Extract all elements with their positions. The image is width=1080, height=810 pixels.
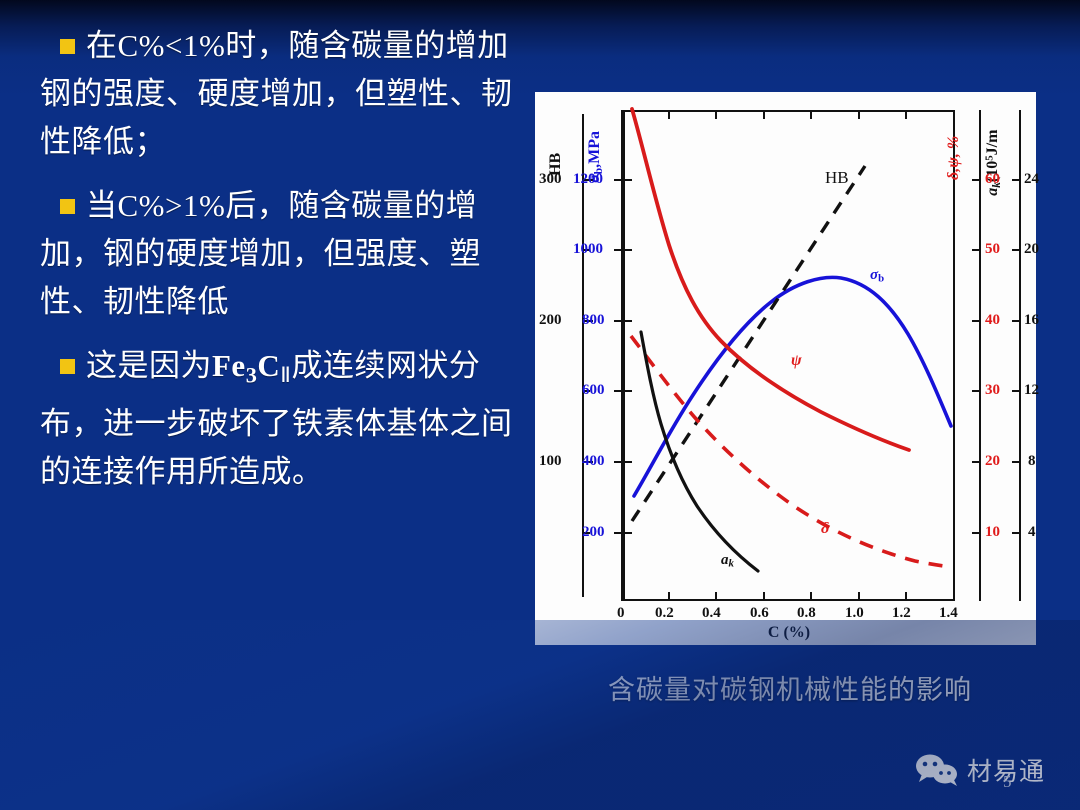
bullet-item-2-text: 当C%>1%后，随含碳量的增加，钢的硬度增加，但强度、塑性、韧性降低	[40, 188, 481, 319]
hb-label-300: 300	[539, 171, 562, 188]
deltapsi-axis-line	[979, 110, 981, 601]
bullet-item-1-text: 在C%<1%时，随含碳量的增加钢的强度、硬度增加，但塑性、韧性降低；	[40, 28, 513, 159]
sigmab-label-1000: 1000	[573, 241, 603, 258]
x-label-06: 0.6	[750, 605, 769, 622]
x-label-02: 0.2	[655, 605, 674, 622]
x-tick-top	[715, 110, 717, 119]
slide-background: 在C%<1%时，随含碳量的增加钢的强度、硬度增加，但塑性、韧性降低； 当C%>1…	[0, 0, 1080, 810]
bullet-item-3: 这是因为Fe3CⅡ成连续网状分布，进一步破坏了铁素体基体之间的连接作用所造成。	[40, 342, 528, 496]
deltapsi-tick-40	[972, 320, 980, 322]
wechat-icon	[915, 754, 959, 786]
x-label-10: 1.0	[845, 605, 864, 622]
bullet-item-2: 当C%>1%后，随含碳量的增加，钢的硬度增加，但强度、塑性、韧性降低	[40, 182, 528, 326]
x-tick-bottom	[858, 592, 860, 601]
ak-label-16: 16	[1024, 312, 1039, 329]
plot-left-tick	[623, 320, 632, 322]
formula-c: C	[257, 348, 280, 383]
sigmab-label-200: 200	[582, 524, 605, 541]
ak-tick-20	[1012, 249, 1020, 251]
sigmab-tick-200	[614, 532, 622, 534]
deltapsi-tick-30	[972, 390, 980, 392]
curve-label-sigma-b: σb	[870, 267, 884, 285]
deltapsi-tick-60	[972, 179, 980, 181]
ak-tick-16	[1012, 320, 1020, 322]
formula-fe: Fe	[212, 348, 246, 383]
deltapsi-label-40: 40	[985, 312, 1000, 329]
curve-delta	[631, 336, 951, 567]
x-label-14: 1.4	[939, 605, 958, 622]
curve-label-ak: ak	[721, 552, 734, 570]
ak-label-24: 24	[1024, 171, 1039, 188]
deltapsi-tick-10	[972, 532, 980, 534]
chart-panel: HB σb,MPa HB σb ψ δ	[535, 92, 1036, 645]
ak-tick-4	[1012, 532, 1020, 534]
x-label-0: 0	[617, 605, 625, 622]
formula-subscript-3: 3	[246, 363, 258, 388]
bullet-list: 在C%<1%时，随含碳量的增加钢的强度、硬度增加，但塑性、韧性降低； 当C%>1…	[40, 22, 528, 512]
plot-left-tick	[623, 461, 632, 463]
deltapsi-label-10: 10	[985, 524, 1000, 541]
x-tick-bottom	[905, 592, 907, 601]
plot-area: HB σb ψ δ ak	[623, 110, 955, 601]
curve-label-hb: HB	[825, 168, 849, 188]
sigmab-label-800: 800	[582, 312, 605, 329]
x-label-04: 0.4	[702, 605, 721, 622]
ak-label-20: 20	[1024, 241, 1039, 258]
hb-label-100: 100	[539, 453, 562, 470]
curve-label-delta: δ	[821, 520, 829, 538]
brand-logo: 材易通	[915, 752, 1045, 788]
x-axis-title: C (%)	[623, 624, 955, 642]
curve-hb	[632, 166, 865, 521]
sigmab-tick-600	[614, 390, 622, 392]
x-tick-top	[858, 110, 860, 119]
plot-left-tick	[623, 390, 632, 392]
x-tick-top	[905, 110, 907, 119]
curve-sigma-b	[634, 277, 951, 496]
ak-label-8: 8	[1028, 453, 1036, 470]
x-tick-bottom	[763, 592, 765, 601]
ak-tick-24	[1012, 179, 1020, 181]
ak-tick-8	[1012, 461, 1020, 463]
curve-psi	[632, 109, 909, 450]
curve-label-psi: ψ	[791, 352, 802, 370]
ak-label-4: 4	[1028, 524, 1036, 541]
sigmab-tick-800	[614, 320, 622, 322]
deltapsi-label-30: 30	[985, 382, 1000, 399]
bullet-square-icon	[60, 359, 75, 374]
bullet-item-3-lead: 这是因为	[86, 348, 212, 383]
sigmab-tick-1200	[614, 179, 622, 181]
bullet-square-icon	[60, 199, 75, 214]
page-number: 5	[1003, 772, 1012, 792]
ak-axis-line	[1019, 110, 1021, 601]
x-tick-bottom	[668, 592, 670, 601]
x-tick-bottom	[715, 592, 717, 601]
plot-left-tick	[623, 249, 632, 251]
plot-left-tick	[623, 532, 632, 534]
deltapsi-label-60: 60	[985, 171, 1000, 188]
deltapsi-label-50: 50	[985, 241, 1000, 258]
ak-tick-12	[1012, 390, 1020, 392]
deltapsi-axis-title: δ,ψ, %	[945, 136, 963, 180]
x-tick-top	[763, 110, 765, 119]
x-tick-top	[668, 110, 670, 119]
plot-curves	[625, 112, 953, 599]
deltapsi-label-20: 20	[985, 453, 1000, 470]
x-label-12: 1.2	[892, 605, 911, 622]
x-tick-top	[810, 110, 812, 119]
sigmab-tick-1000	[614, 249, 622, 251]
sigmab-label-400: 400	[582, 453, 605, 470]
plot-left-tick	[623, 179, 632, 181]
deltapsi-tick-20	[972, 461, 980, 463]
x-label-08: 0.8	[797, 605, 816, 622]
sigmab-label-1200: 1200	[573, 171, 603, 188]
x-tick-bottom	[810, 592, 812, 601]
sigmab-label-600: 600	[582, 382, 605, 399]
hb-label-200: 200	[539, 312, 562, 329]
bullet-item-1: 在C%<1%时，随含碳量的增加钢的强度、硬度增加，但塑性、韧性降低；	[40, 22, 528, 166]
formula-subscript-ii: Ⅱ	[280, 363, 291, 387]
ak-label-12: 12	[1024, 382, 1039, 399]
deltapsi-tick-50	[972, 249, 980, 251]
chart-caption: 含碳量对碳钢机械性能的影响	[540, 668, 1040, 707]
sigmab-tick-400	[614, 461, 622, 463]
bullet-square-icon	[60, 39, 75, 54]
